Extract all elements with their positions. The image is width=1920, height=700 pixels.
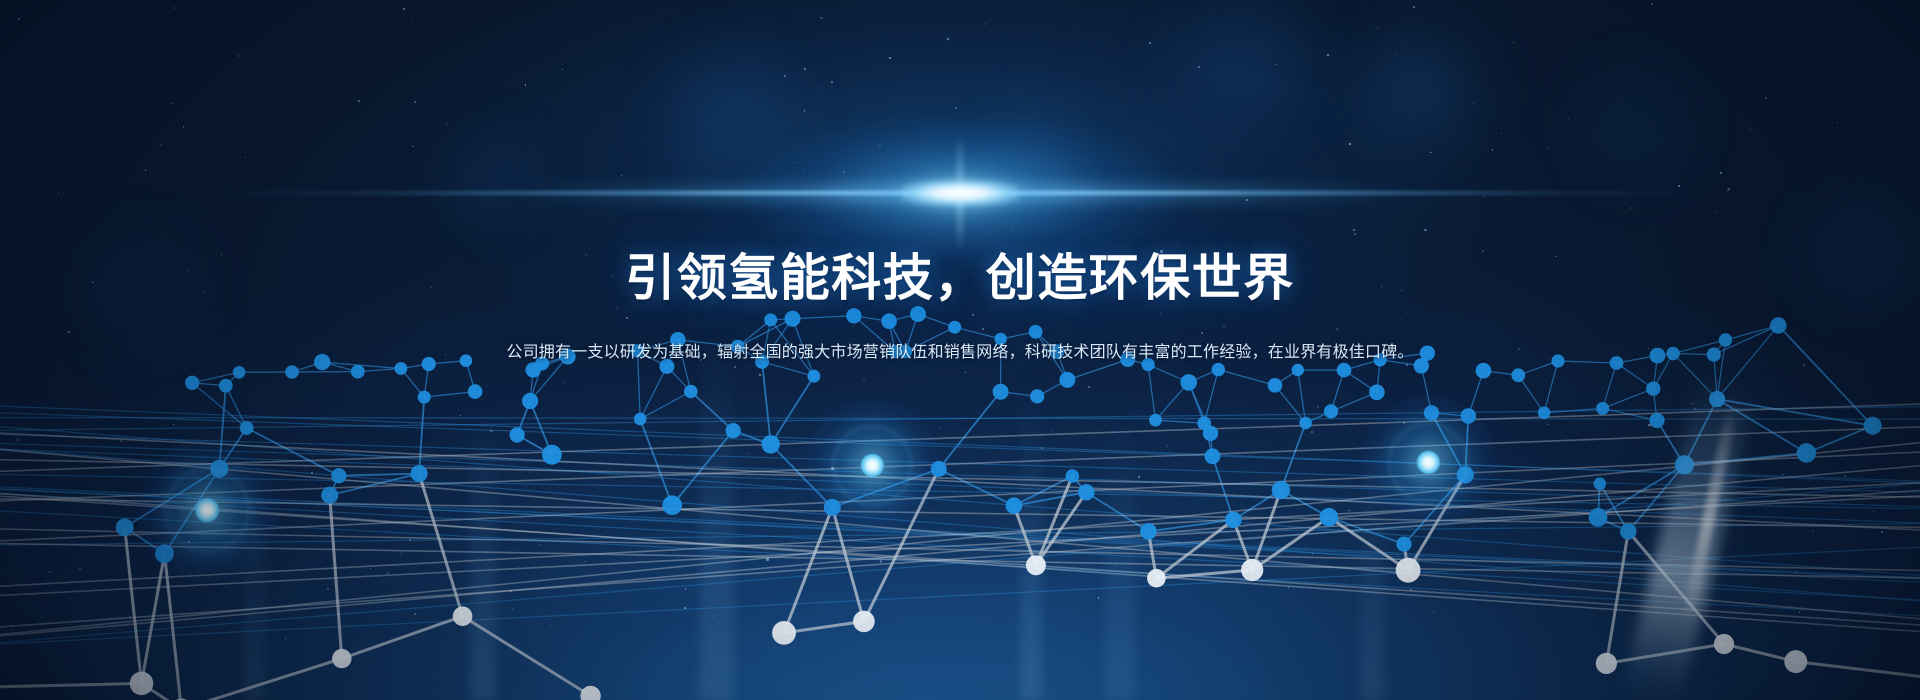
banner-subtitle: 公司拥有一支以研发为基础，辐射全国的强大市场营销队伍和销售网络，科研技术团队有丰…	[0, 341, 1920, 365]
background-bottom-glow	[0, 340, 1920, 700]
hero-banner: 引领氢能科技，创造环保世界 公司拥有一支以研发为基础，辐射全国的强大市场营销队伍…	[0, 0, 1920, 700]
banner-headline: 引领氢能科技，创造环保世界	[0, 249, 1920, 307]
